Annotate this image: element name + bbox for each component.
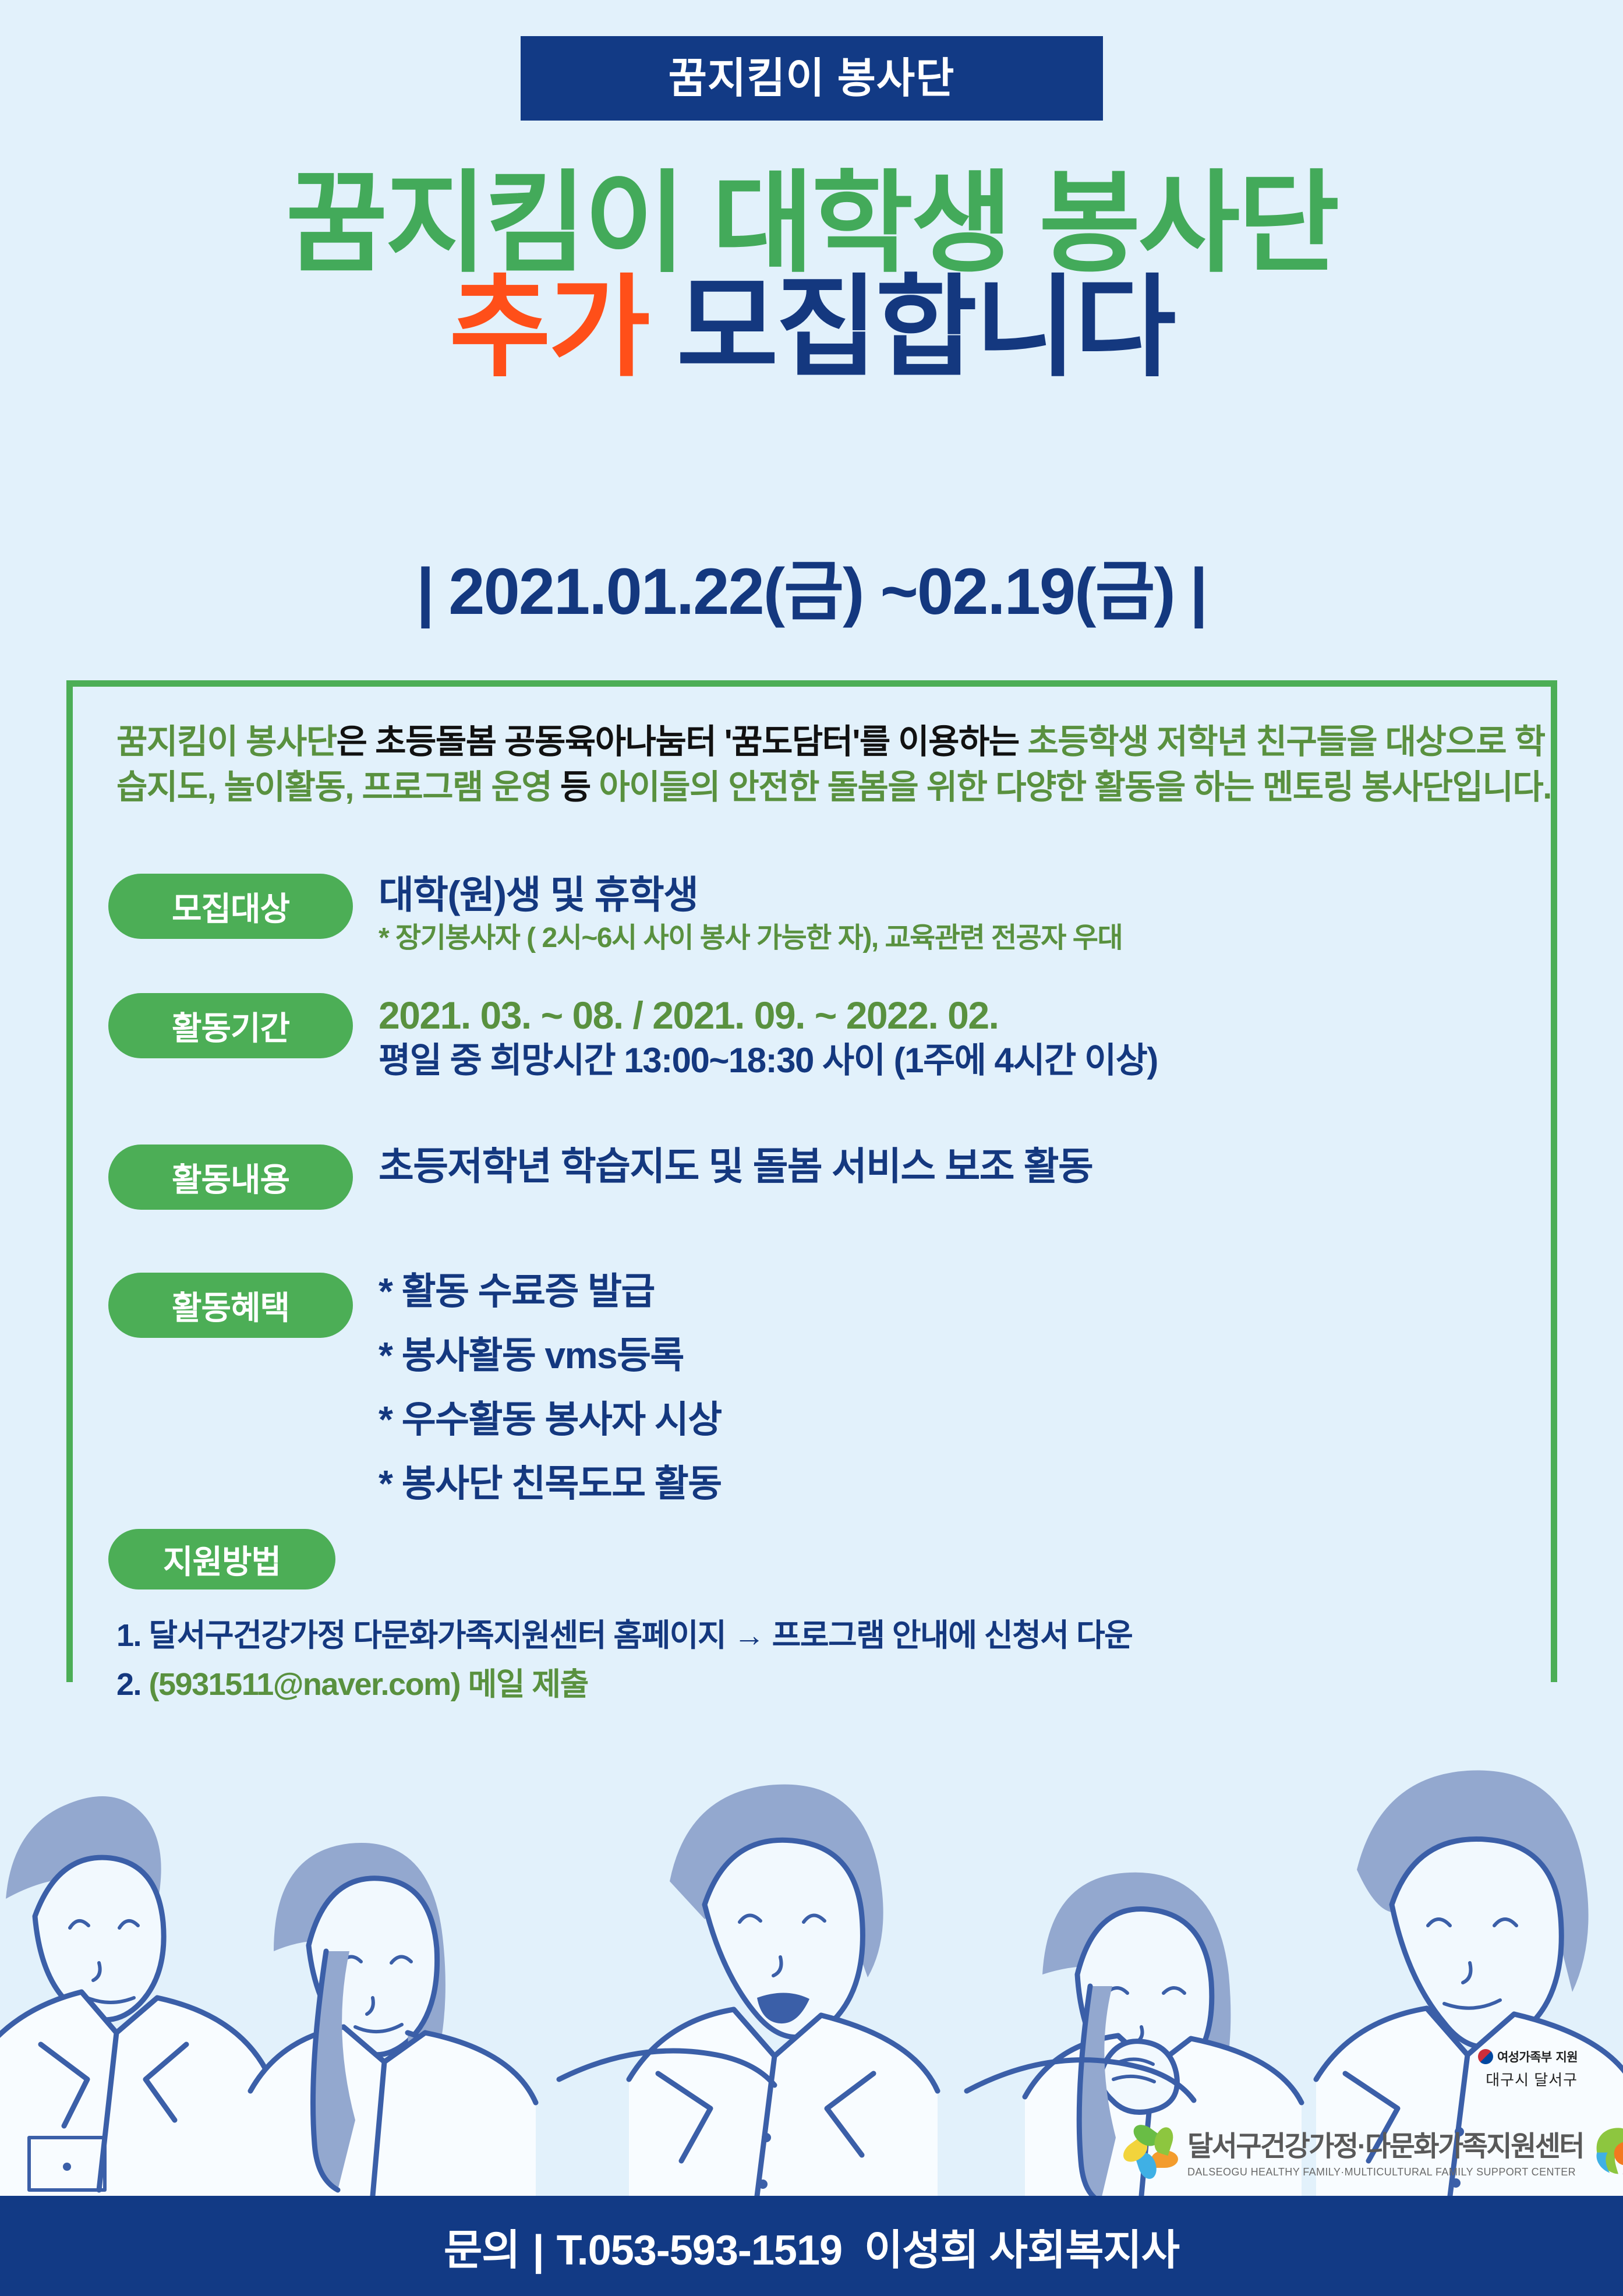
- benefit-item-1: * 활동 수료증 발급: [379, 1273, 722, 1310]
- student-figure-3: [629, 1785, 938, 2196]
- student-figure-1: [0, 1796, 268, 2196]
- gov-region: 대구시 달서구: [1478, 2068, 1578, 2090]
- pill-label-target: 모집대상: [108, 874, 353, 939]
- benefit-item-2: * 봉사활동 vms등록: [379, 1337, 722, 1374]
- intro-seg-6: 등: [560, 768, 599, 806]
- center-name-group: 달서구건강가정·다문화가족지원센터 DALSEOGU HEALTHY FAMIL…: [1187, 2123, 1583, 2178]
- section-activity-body: 초등저학년 학습지도 및 돌봄 서비스 보조 활동: [379, 1145, 1092, 1189]
- student-figure-2: [250, 1843, 536, 2196]
- intro-seg-4: [1506, 723, 1515, 761]
- taegeuk-icon: [1478, 2049, 1493, 2064]
- footer-contact-text: 문의|T.053-593-1519 이성희 사회복지사: [444, 2216, 1179, 2277]
- pill-label-apply: 지원방법: [108, 1529, 335, 1589]
- intro-seg-2: 은 초등돌봄 공동육아나눔터 '꿈도담터'를 이용하는: [337, 723, 1028, 761]
- dateline-bar-left: |: [401, 555, 448, 628]
- footer-separator: |: [519, 2227, 556, 2274]
- intro-seg-1: 꿈지킴이 봉사단: [116, 723, 337, 761]
- period-line-1: 2021. 03. ~ 08. / 2021. 09. ~ 2022. 02.: [379, 993, 1158, 1038]
- intro-seg-7: 아이들의 안전한 돌봄을 위한 다양한 활동을 하는 멘토링 봉사단입니다.: [599, 768, 1551, 806]
- pinwheel-icon: [1123, 2122, 1179, 2178]
- center-logo-row: 달서구건강가정·다문화가족지원센터 DALSEOGU HEALTHY FAMIL…: [1123, 2122, 1623, 2178]
- footer-label: 문의: [444, 2227, 519, 2274]
- gov-suffix: 지원: [1556, 2048, 1578, 2065]
- pill-label-benefits: 활동혜택: [108, 1273, 353, 1338]
- pill-label-period: 활동기간: [108, 993, 353, 1058]
- section-benefits-body: * 활동 수료증 발급 * 봉사활동 vms등록 * 우수활동 봉사자 시상 *…: [379, 1273, 722, 1502]
- footer-person: 이성희 사회복지사: [864, 2227, 1179, 2274]
- dateline-bar-right: |: [1175, 555, 1222, 628]
- apply-step-2-number: 2.: [116, 1667, 149, 1702]
- section-apply-body: 1. 달서구건강가정 다문화가족지원센터 홈페이지 → 프로그램 안내에 신청서…: [116, 1616, 1132, 1714]
- center-name-korean: 달서구건강가정·다문화가족지원센터: [1187, 2123, 1583, 2164]
- headline-line2: 추가 모집합니다: [0, 272, 1623, 385]
- arm-link-left: [559, 2051, 775, 2085]
- pill-label-activity: 활동내용: [108, 1145, 353, 1210]
- gov-label: 여성가족부: [1497, 2048, 1552, 2065]
- footer-phone: T.053-593-1519: [557, 2227, 842, 2274]
- recruitment-period: |2021.01.22(금) ~02.19(금)|: [0, 539, 1623, 633]
- headline-emphasis-chuga: 추가: [449, 266, 648, 390]
- headline: 꿈지킴이 대학생 봉사단 추가 모집합니다: [0, 166, 1623, 384]
- logo-block: 여성가족부지원 대구시 달서구 달서구건강가정·다문화가족지원센터 DALSEO…: [1123, 2048, 1589, 2182]
- footer-contact-bar: 문의|T.053-593-1519 이성희 사회복지사: [0, 2196, 1623, 2296]
- period-line-2: 평일 중 희망시간 13:00~18:30 사이 (1주에 4시간 이상): [379, 1040, 1158, 1082]
- apply-step-2: 2. (5931511@naver.com) 메일 제출: [116, 1665, 1132, 1705]
- target-line-2: * 장기봉사자 ( 2시~6시 사이 봉사 가능한 자), 교육관련 전공자 우…: [379, 920, 1122, 956]
- top-badge-label: 꿈지킴이 봉사단: [669, 58, 955, 100]
- apply-step-1: 1. 달서구건강가정 다문화가족지원센터 홈페이지 → 프로그램 안내에 신청서…: [116, 1616, 1132, 1656]
- dateline-text: 2021.01.22(금) ~02.19(금): [448, 555, 1175, 628]
- benefit-item-4: * 봉사단 친목도모 활동: [379, 1465, 722, 1502]
- section-period-body: 2021. 03. ~ 08. / 2021. 09. ~ 2022. 02. …: [379, 993, 1158, 1081]
- gov-sponsor-line: 여성가족부지원: [1478, 2048, 1578, 2065]
- headline-recruit: 모집합니다: [677, 266, 1174, 390]
- activity-line-1: 초등저학년 학습지도 및 돌봄 서비스 보조 활동: [379, 1145, 1092, 1189]
- intro-paragraph: 꿈지킴이 봉사단은 초등돌봄 공동육아나눔터 '꿈도담터'를 이용하는 초등학생…: [116, 719, 1561, 810]
- top-badge: 꿈지킴이 봉사단: [521, 36, 1103, 121]
- apply-step-2-email: (5931511@naver.com) 메일 제출: [149, 1667, 588, 1702]
- government-sponsor: 여성가족부지원 대구시 달서구: [1478, 2048, 1578, 2090]
- center-name-english: DALSEOGU HEALTHY FAMILY·MULTICULTURAL FA…: [1187, 2166, 1583, 2178]
- poster-root: 꿈지킴이 봉사단 꿈지킴이 대학생 봉사단 추가 모집합니다 |2021.01.…: [0, 0, 1623, 2296]
- headline-line1: 꿈지킴이 대학생 봉사단: [0, 166, 1623, 282]
- intro-seg-3: 초등학생 저학년 친구들을 대상으로: [1027, 723, 1506, 761]
- section-target-body: 대학(원)생 및 휴학생 * 장기봉사자 ( 2시~6시 사이 봉사 가능한 자…: [379, 874, 1122, 956]
- heart-logo-icon: [1592, 2124, 1623, 2177]
- benefit-item-3: * 우수활동 봉사자 시상: [379, 1401, 722, 1438]
- target-line-1: 대학(원)생 및 휴학생: [379, 874, 1122, 917]
